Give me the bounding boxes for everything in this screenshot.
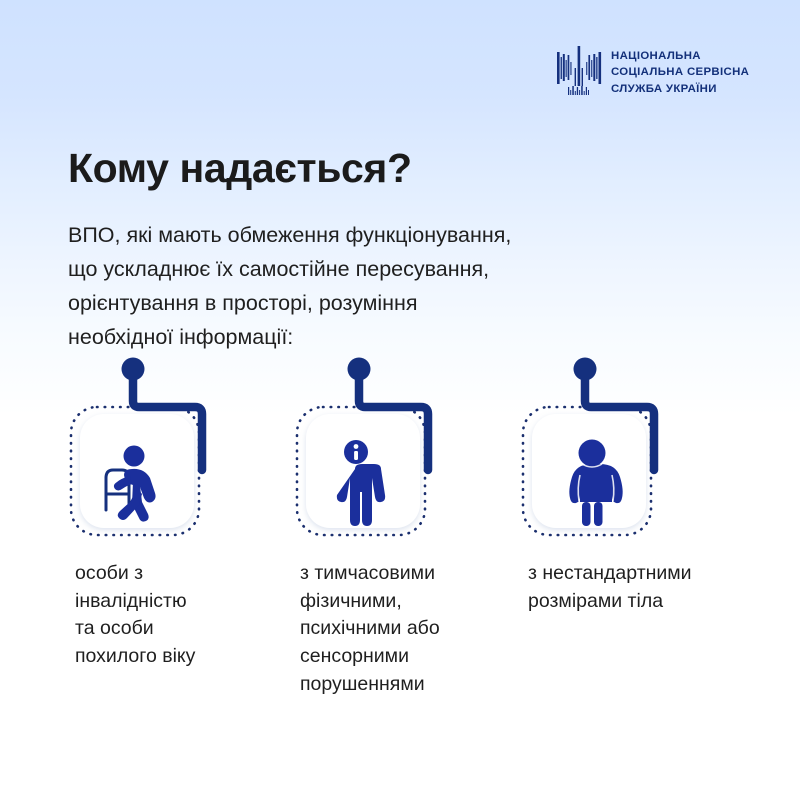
- category-card: особи з інвалідністю та особи похилого в…: [62, 352, 292, 542]
- tryzub-barcode-logo-icon: [556, 46, 602, 100]
- logo-line-2: СОЦІАЛЬНА СЕРВІСНА: [611, 65, 749, 80]
- icon-stage: [514, 352, 704, 542]
- intro-line-2: що ускладнює їх самостійне пересування,: [68, 253, 688, 287]
- intro-line-1: ВПО, які мають обмеження функціонування,: [68, 219, 688, 253]
- icon-stage: [288, 352, 478, 542]
- person-large-body-icon: [514, 352, 704, 542]
- icon-stage: [62, 352, 252, 542]
- page-title: Кому надається?: [68, 146, 412, 191]
- category-card: з нестандартними розмірами тіла: [514, 352, 744, 542]
- card-caption: особи з інвалідністю та особи похилого в…: [75, 560, 195, 671]
- category-card: з тимчасовими фізичними, психічними або …: [288, 352, 518, 542]
- card-caption: з тимчасовими фізичними, психічними або …: [300, 560, 440, 698]
- logo-line-3: СЛУЖБА УКРАЇНИ: [611, 82, 749, 97]
- card-caption: з нестандартними розмірами тіла: [528, 560, 692, 615]
- logo-text-block: НАЦІОНАЛЬНА СОЦІАЛЬНА СЕРВІСНА СЛУЖБА УК…: [611, 49, 749, 96]
- person-with-info-badge-icon: [288, 352, 478, 542]
- intro-line-4: необхідної інформації:: [68, 321, 688, 355]
- intro-line-3: орієнтування в просторі, розуміння: [68, 287, 688, 321]
- organization-logo: НАЦІОНАЛЬНА СОЦІАЛЬНА СЕРВІСНА СЛУЖБА УК…: [556, 46, 749, 100]
- category-cards: особи з інвалідністю та особи похилого в…: [0, 352, 800, 712]
- person-with-walker-icon: [62, 352, 252, 542]
- intro-paragraph: ВПО, які мають обмеження функціонування,…: [68, 219, 688, 355]
- logo-line-1: НАЦІОНАЛЬНА: [611, 49, 749, 64]
- poster-canvas: НАЦІОНАЛЬНА СОЦІАЛЬНА СЕРВІСНА СЛУЖБА УК…: [0, 0, 800, 800]
